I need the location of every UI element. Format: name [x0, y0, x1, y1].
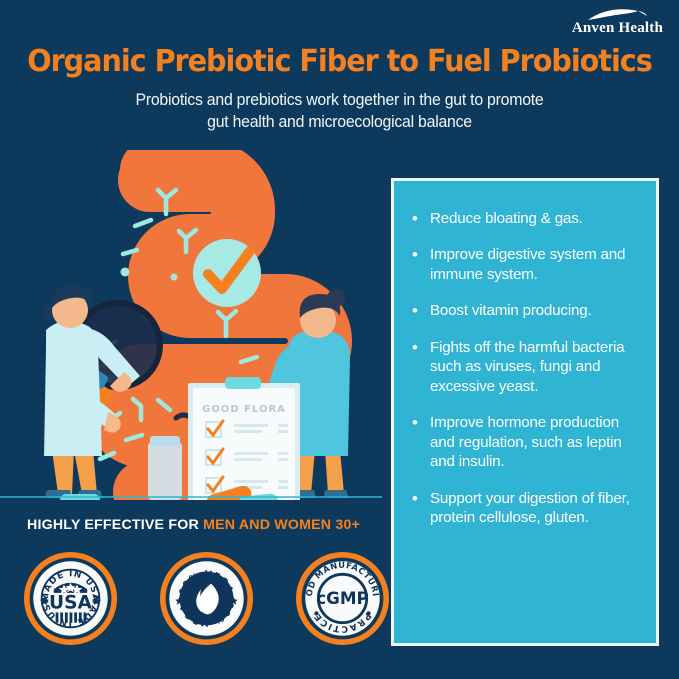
brand-logo: Anven Health: [572, 8, 663, 37]
check-circle-icon: [193, 239, 261, 307]
trust-badges: MADE IN USA MADE IN USA USA: [24, 552, 389, 645]
effective-prefix: HIGHLY EFFECTIVE FOR: [27, 517, 203, 533]
list-item: Fights off the harmful bacteria such as …: [410, 338, 642, 396]
usa-center-text: USA: [49, 593, 92, 614]
cgmp-badge: GOOD MANUFACTURING PRACTICE cGMP: [296, 552, 389, 645]
vegan-badge: 100% VEGAN 100% VEGAN: [160, 552, 253, 645]
list-item: Improve hormone production and regulatio…: [410, 413, 642, 471]
made-in-usa-badge: MADE IN USA MADE IN USA USA: [24, 552, 117, 645]
list-item: Reduce bloating & gas.: [410, 209, 642, 228]
list-item: Boost vitamin producing.: [410, 301, 642, 320]
subtitle-line-2: gut health and microecological balance: [14, 112, 666, 134]
clipboard-title: GOOD FLORA: [202, 404, 286, 415]
list-item: Support your digestion of fiber, protein…: [410, 489, 642, 528]
page-subtitle: Probiotics and prebiotics work together …: [14, 90, 666, 134]
brand-name: Anven Health: [572, 20, 663, 37]
benefits-list: Reduce bloating & gas. Improve digestive…: [394, 181, 656, 527]
benefits-panel: Reduce bloating & gas. Improve digestive…: [391, 178, 659, 646]
list-item: Improve digestive system and immune syst…: [410, 245, 642, 284]
page-title: Organic Prebiotic Fiber to Fuel Probioti…: [20, 44, 658, 79]
highly-effective-line: HIGHLY EFFECTIVE FOR MEN AND WOMEN 30+: [27, 517, 360, 533]
subtitle-line-1: Probiotics and prebiotics work together …: [14, 90, 666, 112]
cgmp-center-text: cGMP: [316, 588, 369, 608]
effective-highlight: MEN AND WOMEN 30+: [203, 517, 360, 533]
gut-illustration: GOOD FLORA: [0, 150, 390, 500]
infographic-page: Anven Health Organic Prebiotic Fiber to …: [0, 0, 679, 679]
clipboard: GOOD FLORA: [188, 377, 300, 500]
ground-line: [0, 496, 382, 498]
